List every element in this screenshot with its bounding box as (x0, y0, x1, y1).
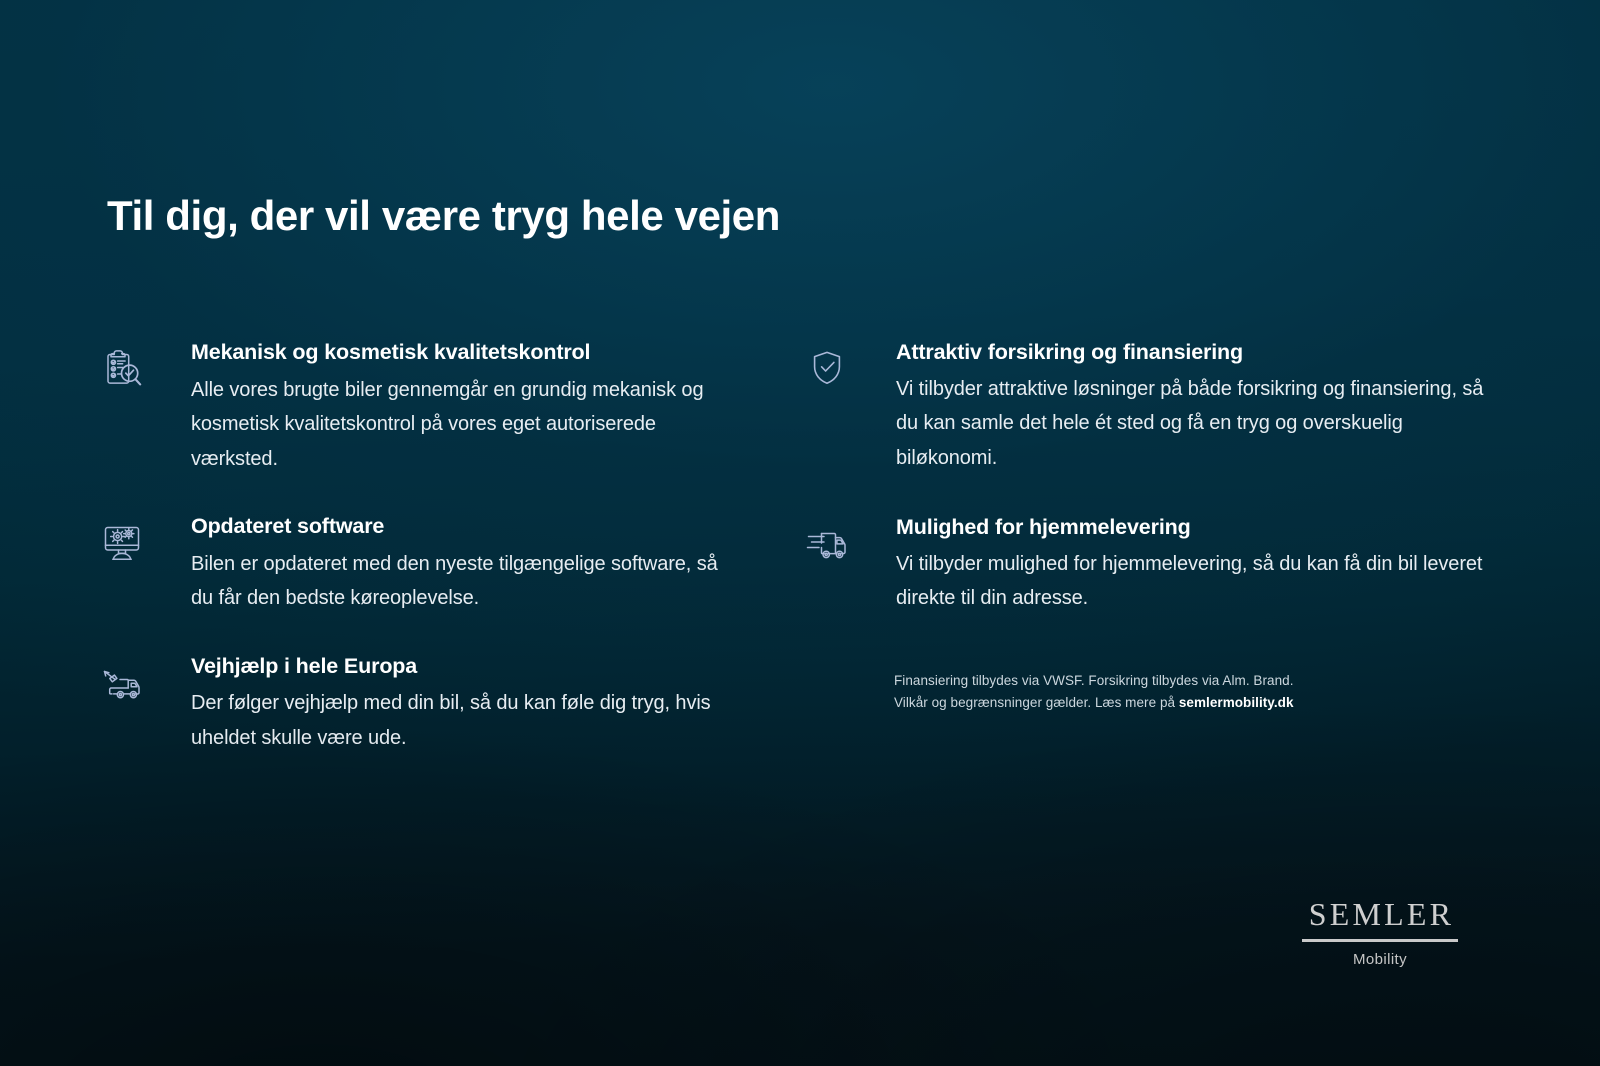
feature-title: Mulighed for hjemmelevering (896, 515, 1485, 541)
logo-divider (1302, 939, 1458, 942)
logo-wordmark: SEMLER (1302, 898, 1458, 930)
semlermobility-link[interactable]: semlermobility.dk (1179, 695, 1294, 710)
disclaimer-line-2-text: Vilkår og begrænsninger gælder. Læs mere… (894, 695, 1179, 710)
disclaimer-line-1: Finansiering tilbydes via VWSF. Forsikri… (894, 670, 1414, 692)
feature-column-right: Attraktiv forsikring og finansiering Vi … (805, 340, 1485, 656)
feature-title: Mekanisk og kosmetisk kvalitetskontrol (191, 340, 740, 366)
feature-title: Vejhjælp i hele Europa (191, 654, 740, 680)
tow-truck-icon (100, 654, 158, 706)
feature-body: Der følger vejhjælp med din bil, så du k… (191, 686, 740, 755)
feature-body: Alle vores brugte biler gennemgår en gru… (191, 373, 740, 476)
feature-item-quality-control: Mekanisk og kosmetisk kvalitetskontrol A… (100, 340, 740, 476)
feature-body: Bilen er opdateret med den nyeste tilgæn… (191, 547, 740, 616)
feature-column-left: Mekanisk og kosmetisk kvalitetskontrol A… (100, 340, 740, 793)
slide-canvas: Til dig, der vil være tryg hele vejen (0, 0, 1600, 1066)
feature-title: Attraktiv forsikring og finansiering (896, 340, 1485, 366)
feature-item-insurance-financing: Attraktiv forsikring og finansiering Vi … (805, 340, 1485, 475)
semler-mobility-logo: SEMLER Mobility (1302, 898, 1458, 968)
disclaimer-line-2: Vilkår og begrænsninger gælder. Læs mere… (894, 692, 1414, 714)
feature-body: Vi tilbyder attraktive løsninger på både… (896, 372, 1485, 475)
feature-item-roadside-assistance: Vejhjælp i hele Europa Der følger vejhjæ… (100, 654, 740, 756)
monitor-gears-icon (100, 514, 158, 566)
shield-check-icon (805, 340, 863, 392)
delivery-truck-icon (805, 515, 863, 567)
feature-item-home-delivery: Mulighed for hjemmelevering Vi tilbyder … (805, 515, 1485, 616)
logo-subtitle: Mobility (1302, 951, 1458, 968)
feature-title: Opdateret software (191, 514, 740, 540)
legal-disclaimer: Finansiering tilbydes via VWSF. Forsikri… (894, 670, 1414, 715)
feature-body: Vi tilbyder mulighed for hjemmelevering,… (896, 547, 1485, 616)
clipboard-check-magnifier-icon (100, 340, 158, 392)
page-title: Til dig, der vil være tryg hele vejen (107, 192, 780, 240)
feature-item-updated-software: Opdateret software Bilen er opdateret me… (100, 514, 740, 616)
